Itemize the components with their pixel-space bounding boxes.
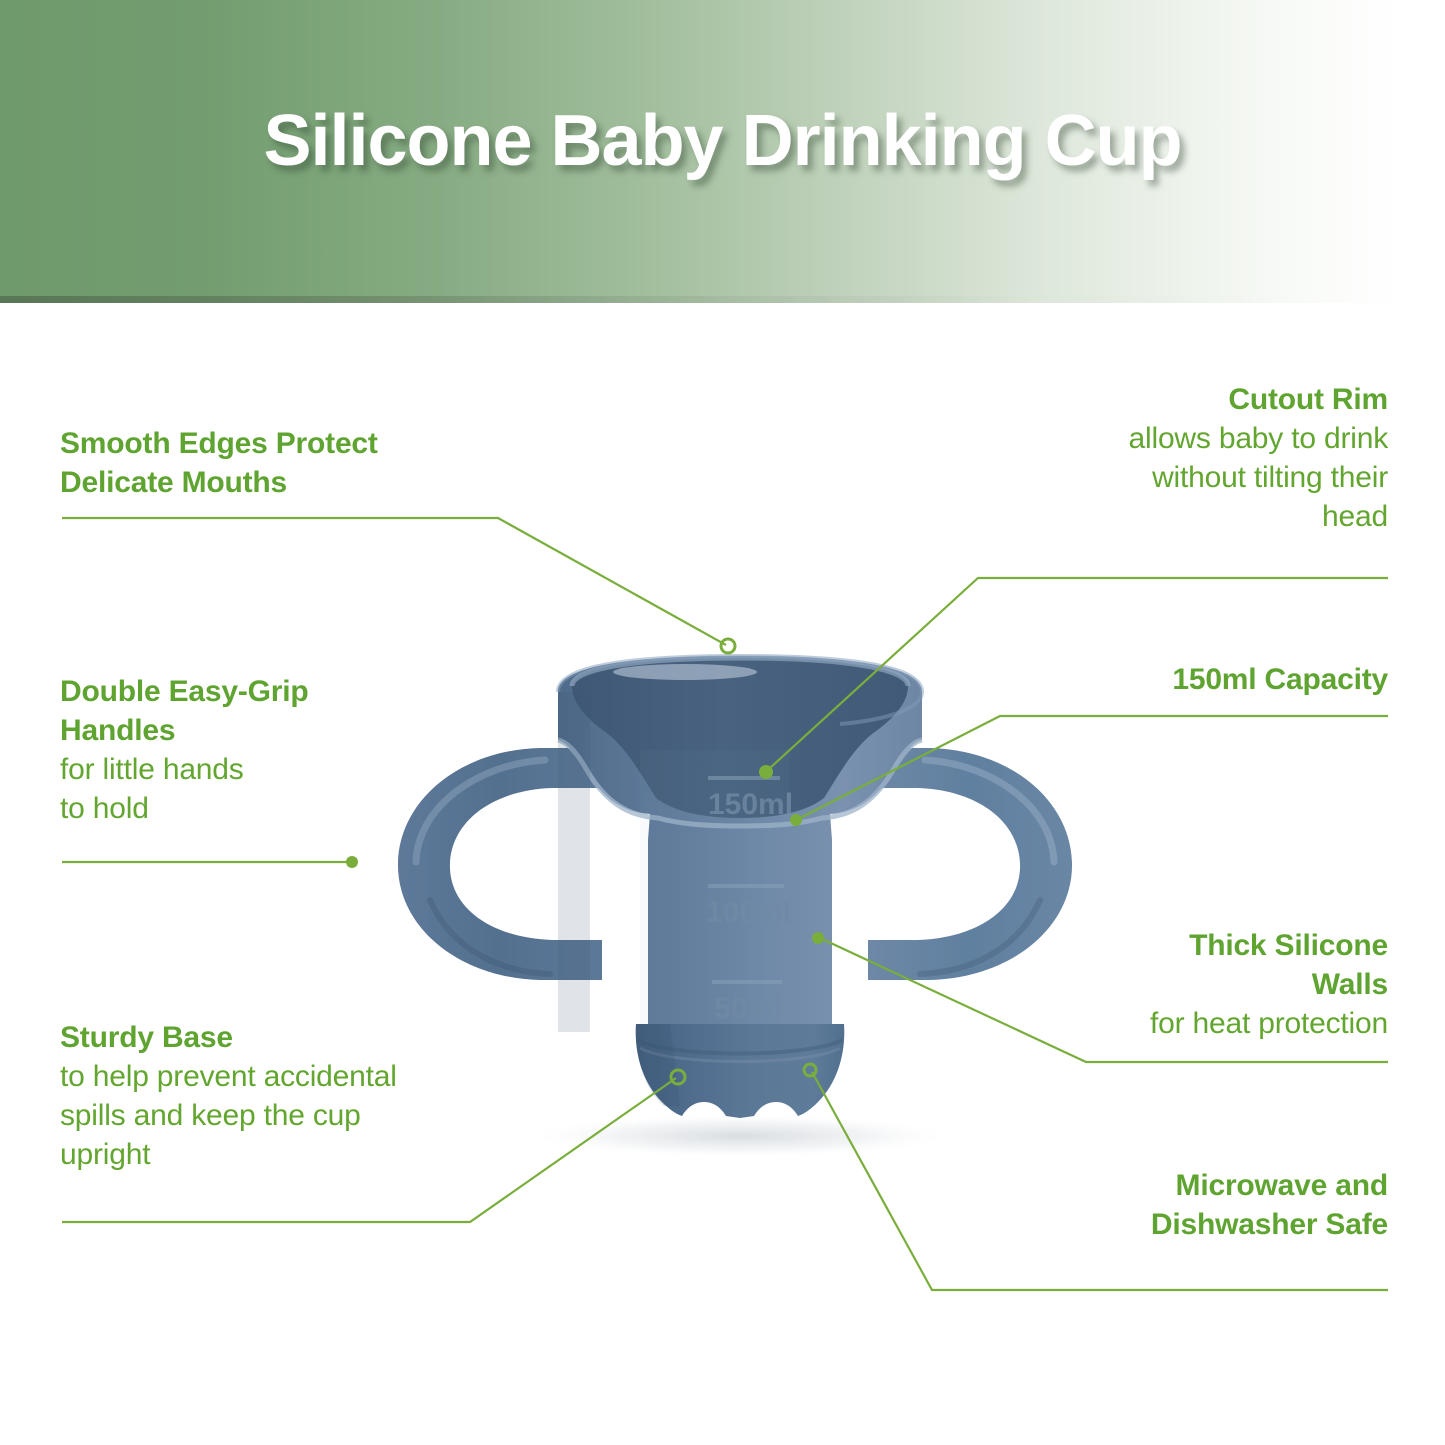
callout-microwave-safe: Microwave and Dishwasher Safe — [948, 1166, 1388, 1244]
page-title: Silicone Baby Drinking Cup — [0, 100, 1445, 182]
callout-handles-sub2: to hold — [60, 789, 460, 828]
callout-sturdy-sub1: to help prevent accidental — [60, 1057, 540, 1096]
callout-handles-sub1: for little hands — [60, 750, 460, 789]
callout-smooth-edges-line1: Smooth Edges Protect — [60, 424, 530, 463]
callout-capacity-line1: 150ml Capacity — [948, 660, 1388, 699]
callout-walls-line2: Walls — [948, 965, 1388, 1004]
mark-100ml: 100ml — [706, 896, 791, 929]
callout-double-handles: Double Easy-Grip Handles for little hand… — [60, 672, 460, 828]
callout-smooth-edges: Smooth Edges Protect Delicate Mouths — [60, 424, 530, 502]
callout-safe-line2: Dishwasher Safe — [948, 1205, 1388, 1244]
callout-rim-line1: Cutout Rim — [948, 380, 1388, 419]
callout-smooth-edges-line2: Delicate Mouths — [60, 463, 530, 502]
callout-walls-line1: Thick Silicone — [948, 926, 1388, 965]
callout-sturdy-sub2: spills and keep the cup — [60, 1096, 540, 1135]
callout-walls-sub1: for heat protection — [948, 1004, 1388, 1043]
cup-ground-shadow — [525, 1114, 955, 1158]
callout-handles-line1: Double Easy-Grip — [60, 672, 460, 711]
callout-sturdy-sub3: upright — [60, 1135, 540, 1174]
mark-150ml: 150ml — [708, 788, 793, 821]
callout-sturdy-base: Sturdy Base to help prevent accidental s… — [60, 1018, 540, 1174]
callout-thick-walls: Thick Silicone Walls for heat protection — [948, 926, 1388, 1043]
callout-cutout-rim: Cutout Rim allows baby to drink without … — [948, 380, 1388, 536]
callout-sturdy-line1: Sturdy Base — [60, 1018, 540, 1057]
callout-handles-line2: Handles — [60, 711, 460, 750]
mark-50ml: 50ml — [714, 992, 782, 1025]
callout-capacity: 150ml Capacity — [948, 660, 1388, 699]
callout-rim-sub1: allows baby to drink — [948, 419, 1388, 458]
callout-safe-line1: Microwave and — [948, 1166, 1388, 1205]
cup-base — [636, 1024, 845, 1118]
infographic-canvas: Silicone Baby Drinking Cup — [0, 0, 1445, 1445]
callout-rim-sub3: head — [948, 497, 1388, 536]
callout-rim-sub2: without tilting their — [948, 458, 1388, 497]
